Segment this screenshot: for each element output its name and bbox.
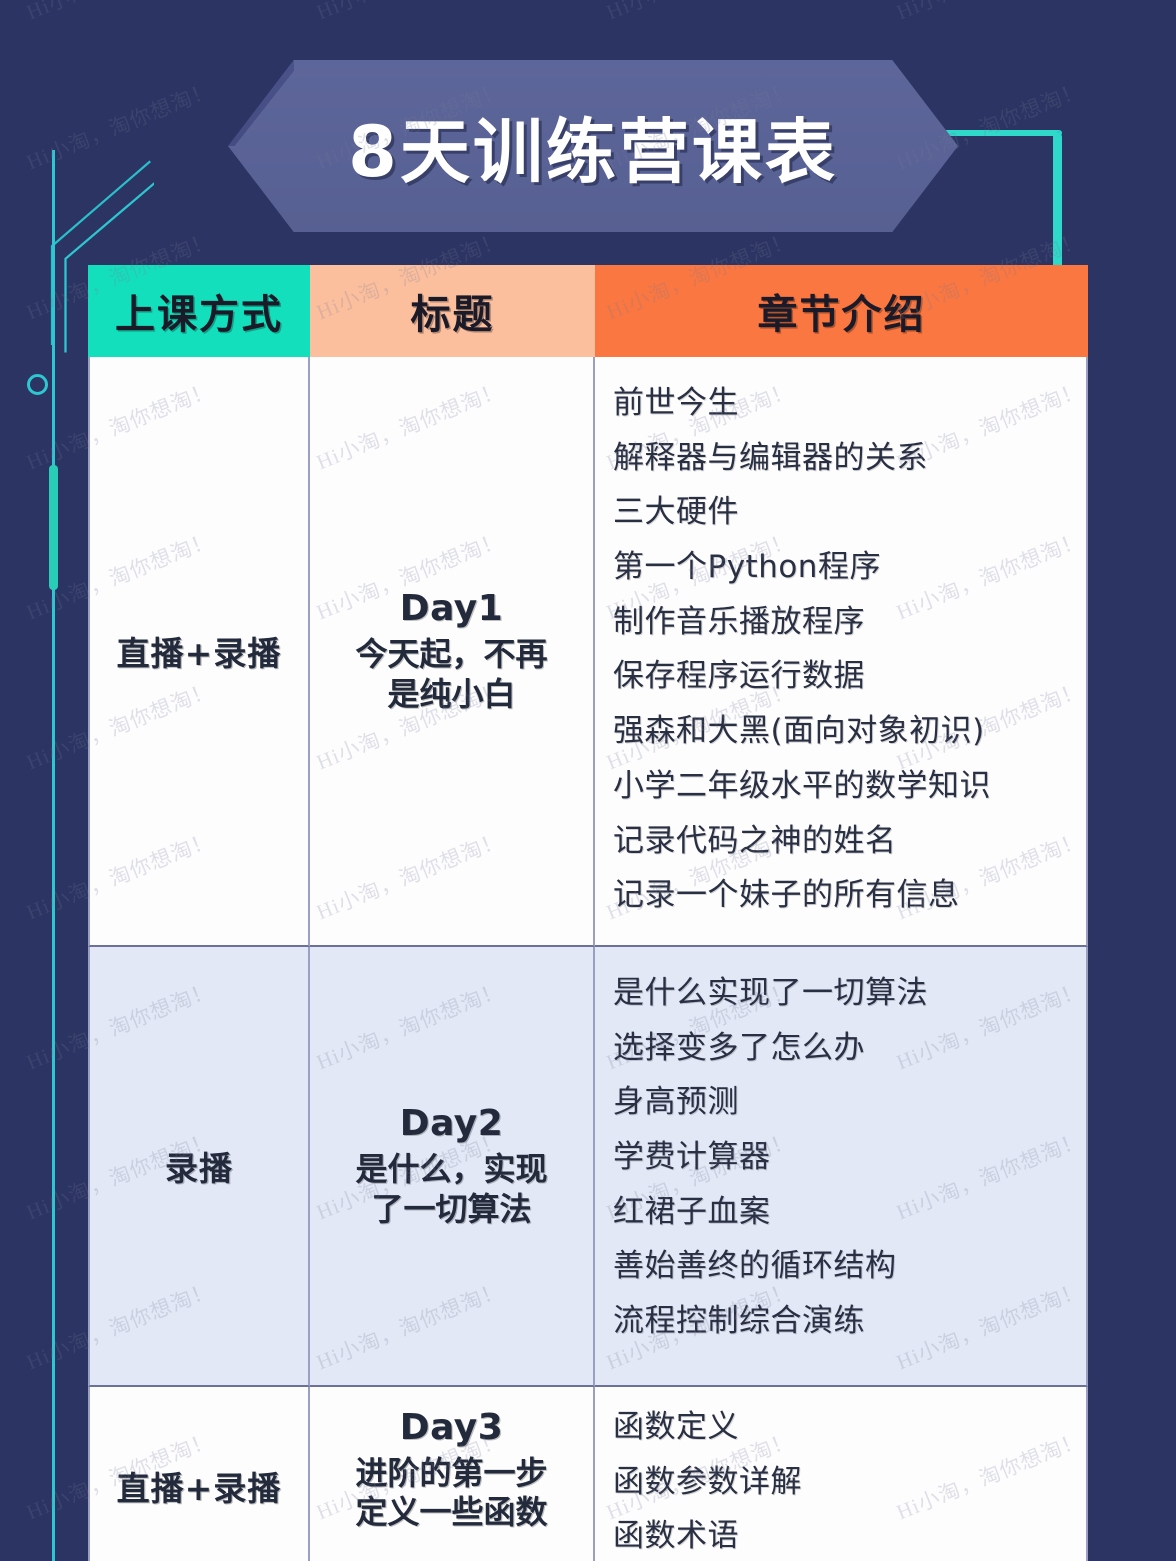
- chapter-item: 记录代码之神的姓名: [613, 815, 897, 868]
- title-line-1: 进阶的第一步: [355, 1454, 547, 1493]
- chapter-item: 记录一个妹子的所有信息: [613, 869, 960, 922]
- cell-title: Day2 是什么，实现 了一切算法: [310, 947, 595, 1387]
- circuit-node-circle-icon: [27, 374, 48, 395]
- chapter-item: 第一个Python程序: [613, 541, 881, 594]
- chapter-item: 强森和大黑(面向对象初识): [613, 705, 985, 758]
- cell-mode: 直播+录播: [88, 1387, 310, 1561]
- title-line-2: 定义一些函数: [355, 1493, 547, 1532]
- chapter-item: 制作音乐播放程序: [613, 596, 865, 649]
- chapter-item: 解释器与编辑器的关系: [613, 432, 928, 485]
- poster-root: 8天训练营课表 上课方式 标题 章节介绍 直播+录播 Day1 今天起，不再 是…: [0, 0, 1176, 1561]
- chapter-item: 身高预测: [613, 1076, 739, 1129]
- table-row: 直播+录播 Day1 今天起，不再 是纯小白 前世今生 解释器与编辑器的关系 三…: [88, 357, 1088, 947]
- chapter-item: 三大硬件: [613, 486, 739, 539]
- day-label: Day3: [400, 1407, 504, 1448]
- cell-title: Day3 进阶的第一步 定义一些函数: [310, 1387, 595, 1561]
- chapter-item: 函数参数详解: [613, 1456, 802, 1509]
- cell-chapters: 前世今生 解释器与编辑器的关系 三大硬件 第一个Python程序 制作音乐播放程…: [595, 357, 1088, 947]
- chapter-item: 函数术语: [613, 1510, 739, 1561]
- watermark-text: Hi小淘，淘你想淘！: [892, 0, 1088, 26]
- column-header-chapters: 章节介绍: [595, 265, 1088, 357]
- table-row: 直播+录播 Day3 进阶的第一步 定义一些函数 函数定义 函数参数详解 函数术…: [88, 1387, 1088, 1561]
- chapter-item: 学费计算器: [613, 1131, 771, 1184]
- chapter-item: 善始善终的循环结构: [613, 1240, 897, 1293]
- watermark-text: Hi小淘，淘你想淘！: [312, 0, 508, 26]
- day-label: Day1: [400, 588, 504, 629]
- chapter-item: 小学二年级水平的数学知识: [613, 760, 991, 813]
- watermark-text: Hi小淘，淘你想淘！: [602, 0, 798, 26]
- table-header-row: 上课方式 标题 章节介绍: [88, 265, 1088, 357]
- chapter-item: 选择变多了怎么办: [613, 1022, 865, 1075]
- cell-chapters: 是什么实现了一切算法 选择变多了怎么办 身高预测 学费计算器 红裙子血案 善始善…: [595, 947, 1088, 1387]
- chapter-item: 函数定义: [613, 1401, 739, 1454]
- title-line-1: 是什么，实现: [355, 1150, 547, 1189]
- column-header-title: 标题: [310, 265, 595, 357]
- schedule-table: 上课方式 标题 章节介绍 直播+录播 Day1 今天起，不再 是纯小白 前世今生…: [88, 265, 1088, 1561]
- watermark-text: Hi小淘，淘你想淘！: [22, 0, 218, 26]
- title-line-2: 是纯小白: [387, 675, 515, 714]
- chapter-item: 前世今生: [613, 377, 739, 430]
- cell-mode: 录播: [88, 947, 310, 1387]
- day-label: Day2: [400, 1103, 504, 1144]
- chapter-item: 流程控制综合演练: [613, 1295, 865, 1348]
- circuit-line-left-vertical-icon: [52, 150, 55, 1561]
- cell-mode: 直播+录播: [88, 357, 310, 947]
- page-title: 8天训练营课表: [228, 60, 958, 232]
- title-line-1: 今天起，不再: [355, 635, 547, 674]
- title-line-2: 了一切算法: [371, 1190, 531, 1229]
- table-row: 录播 Day2 是什么，实现 了一切算法 是什么实现了一切算法 选择变多了怎么办…: [88, 947, 1088, 1387]
- cell-title: Day1 今天起，不再 是纯小白: [310, 357, 595, 947]
- chapter-item: 是什么实现了一切算法: [613, 967, 928, 1020]
- title-banner: 8天训练营课表: [228, 60, 958, 232]
- column-header-mode: 上课方式: [88, 265, 310, 357]
- circuit-accent-bar-left-icon: [49, 465, 58, 590]
- cell-chapters: 函数定义 函数参数详解 函数术语: [595, 1387, 1088, 1561]
- chapter-item: 保存程序运行数据: [613, 650, 865, 703]
- chapter-item: 红裙子血案: [613, 1186, 771, 1239]
